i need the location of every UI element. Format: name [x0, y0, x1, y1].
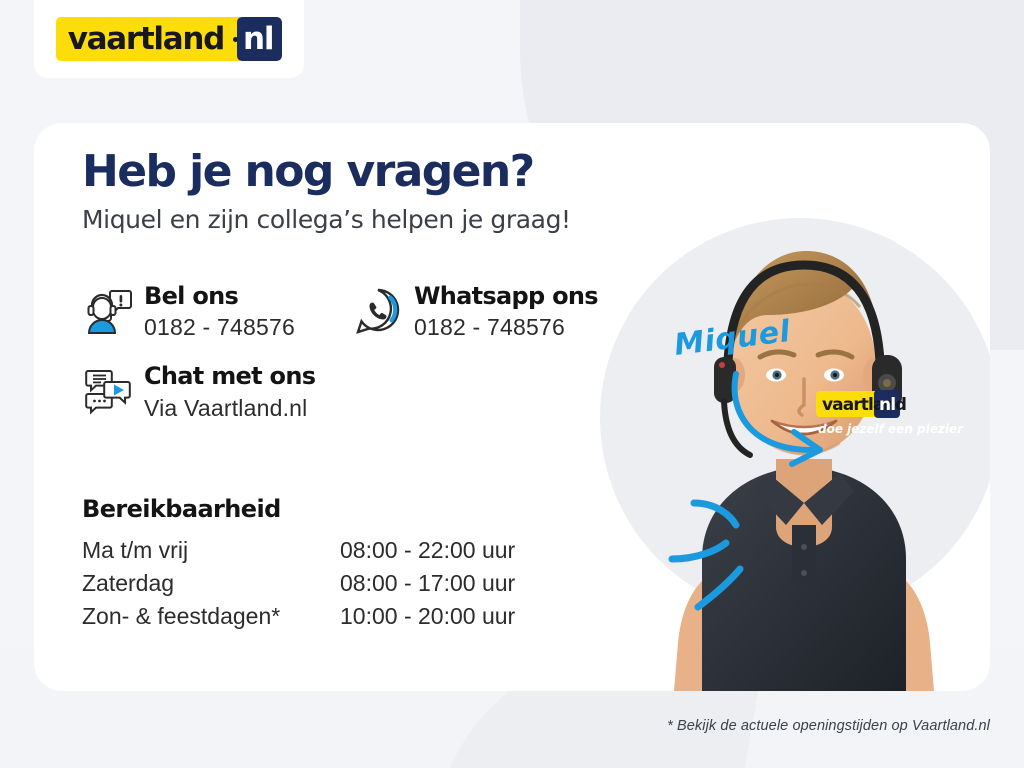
- hours-time-value: 10:00 - 20:00 uur: [340, 603, 515, 630]
- contact-item-chat[interactable]: Chat met ons Via Vaartland.nl: [82, 363, 352, 421]
- table-row: Ma t/m vrij 08:00 - 22:00 uur: [82, 537, 582, 564]
- motion-lines-icon: [664, 481, 774, 616]
- logo-wordmark: vaartland: [56, 17, 233, 61]
- contact-chat-value[interactable]: Via Vaartland.nl: [144, 395, 315, 422]
- chat-bubbles-play-icon: [82, 365, 134, 417]
- hours-day-label: Zaterdag: [82, 570, 340, 597]
- contact-call-value[interactable]: 0182 - 748576: [144, 314, 295, 341]
- contact-chat-title: Chat met ons: [144, 362, 315, 390]
- whatsapp-phone-bubble-icon: [352, 285, 404, 337]
- contact-chat-text: Chat met ons Via Vaartland.nl: [144, 363, 315, 421]
- page-title: Heb je nog vragen?: [82, 149, 642, 195]
- opening-hours-table: Bereikbaarheid Ma t/m vrij 08:00 - 22:00…: [82, 495, 582, 636]
- hours-time-value: 08:00 - 22:00 uur: [340, 537, 515, 564]
- table-row: Zaterdag 08:00 - 17:00 uur: [82, 570, 582, 597]
- main-content-card: Heb je nog vragen? Miquel en zijn colleg…: [34, 123, 990, 691]
- contact-call-text: Bel ons 0182 - 748576: [144, 283, 295, 341]
- logo-tld: nl: [237, 17, 282, 61]
- curved-arrow-icon: [724, 368, 854, 478]
- logo-card[interactable]: vaartland nl: [34, 0, 304, 78]
- headset-person-speech-bubble-icon: [82, 285, 134, 337]
- table-row: Zon- & feestdagen* 10:00 - 20:00 uur: [82, 603, 582, 630]
- page-subtitle: Miquel en zijn collega’s helpen je graag…: [82, 205, 642, 234]
- svg-text:nl: nl: [879, 395, 895, 415]
- contact-item-call[interactable]: Bel ons 0182 - 748576: [82, 283, 352, 341]
- footnote-text: * Bekijk de actuele openingstijden op Va…: [667, 718, 990, 734]
- opening-hours-title: Bereikbaarheid: [82, 495, 582, 523]
- vaartland-logo[interactable]: vaartland nl: [56, 17, 283, 61]
- hours-day-label: Zon- & feestdagen*: [82, 603, 340, 630]
- contact-call-title: Bel ons: [144, 282, 238, 310]
- hours-day-label: Ma t/m vrij: [82, 537, 340, 564]
- hero-text-block: Heb je nog vragen? Miquel en zijn colleg…: [82, 149, 642, 234]
- hours-time-value: 08:00 - 17:00 uur: [340, 570, 515, 597]
